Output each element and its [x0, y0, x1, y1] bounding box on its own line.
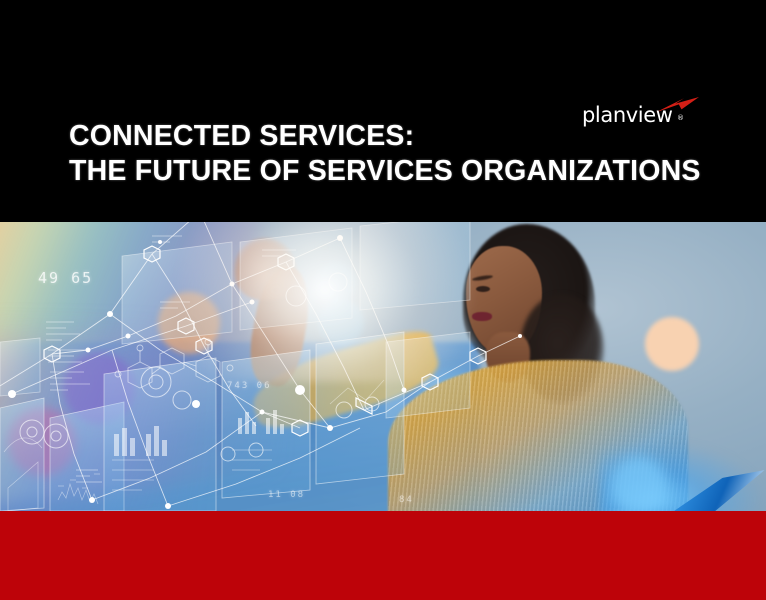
planview-wordmark: planview [582, 105, 673, 126]
registered-trademark-icon: ® [677, 115, 684, 122]
slide-root: CONNECTED SERVICES: THE FUTURE OF SERVIC… [0, 0, 766, 600]
bokeh-blue-bright [611, 457, 667, 511]
planview-logo[interactable]: planview ® [582, 96, 700, 134]
hologram-touch-glow [175, 222, 475, 382]
header-band: CONNECTED SERVICES: THE FUTURE OF SERVIC… [0, 0, 766, 222]
footer-band [0, 511, 766, 600]
hero-image: 49 65 743 06 84 11 08 [0, 222, 766, 511]
hud-readout-4: 11 08 [268, 490, 305, 500]
hud-readout-2: 743 06 [227, 381, 272, 391]
hud-readout-3: 84 [399, 495, 414, 505]
title-line-2: THE FUTURE OF SERVICES ORGANIZATIONS [69, 154, 729, 189]
hud-readout-1: 49 65 [38, 269, 93, 287]
